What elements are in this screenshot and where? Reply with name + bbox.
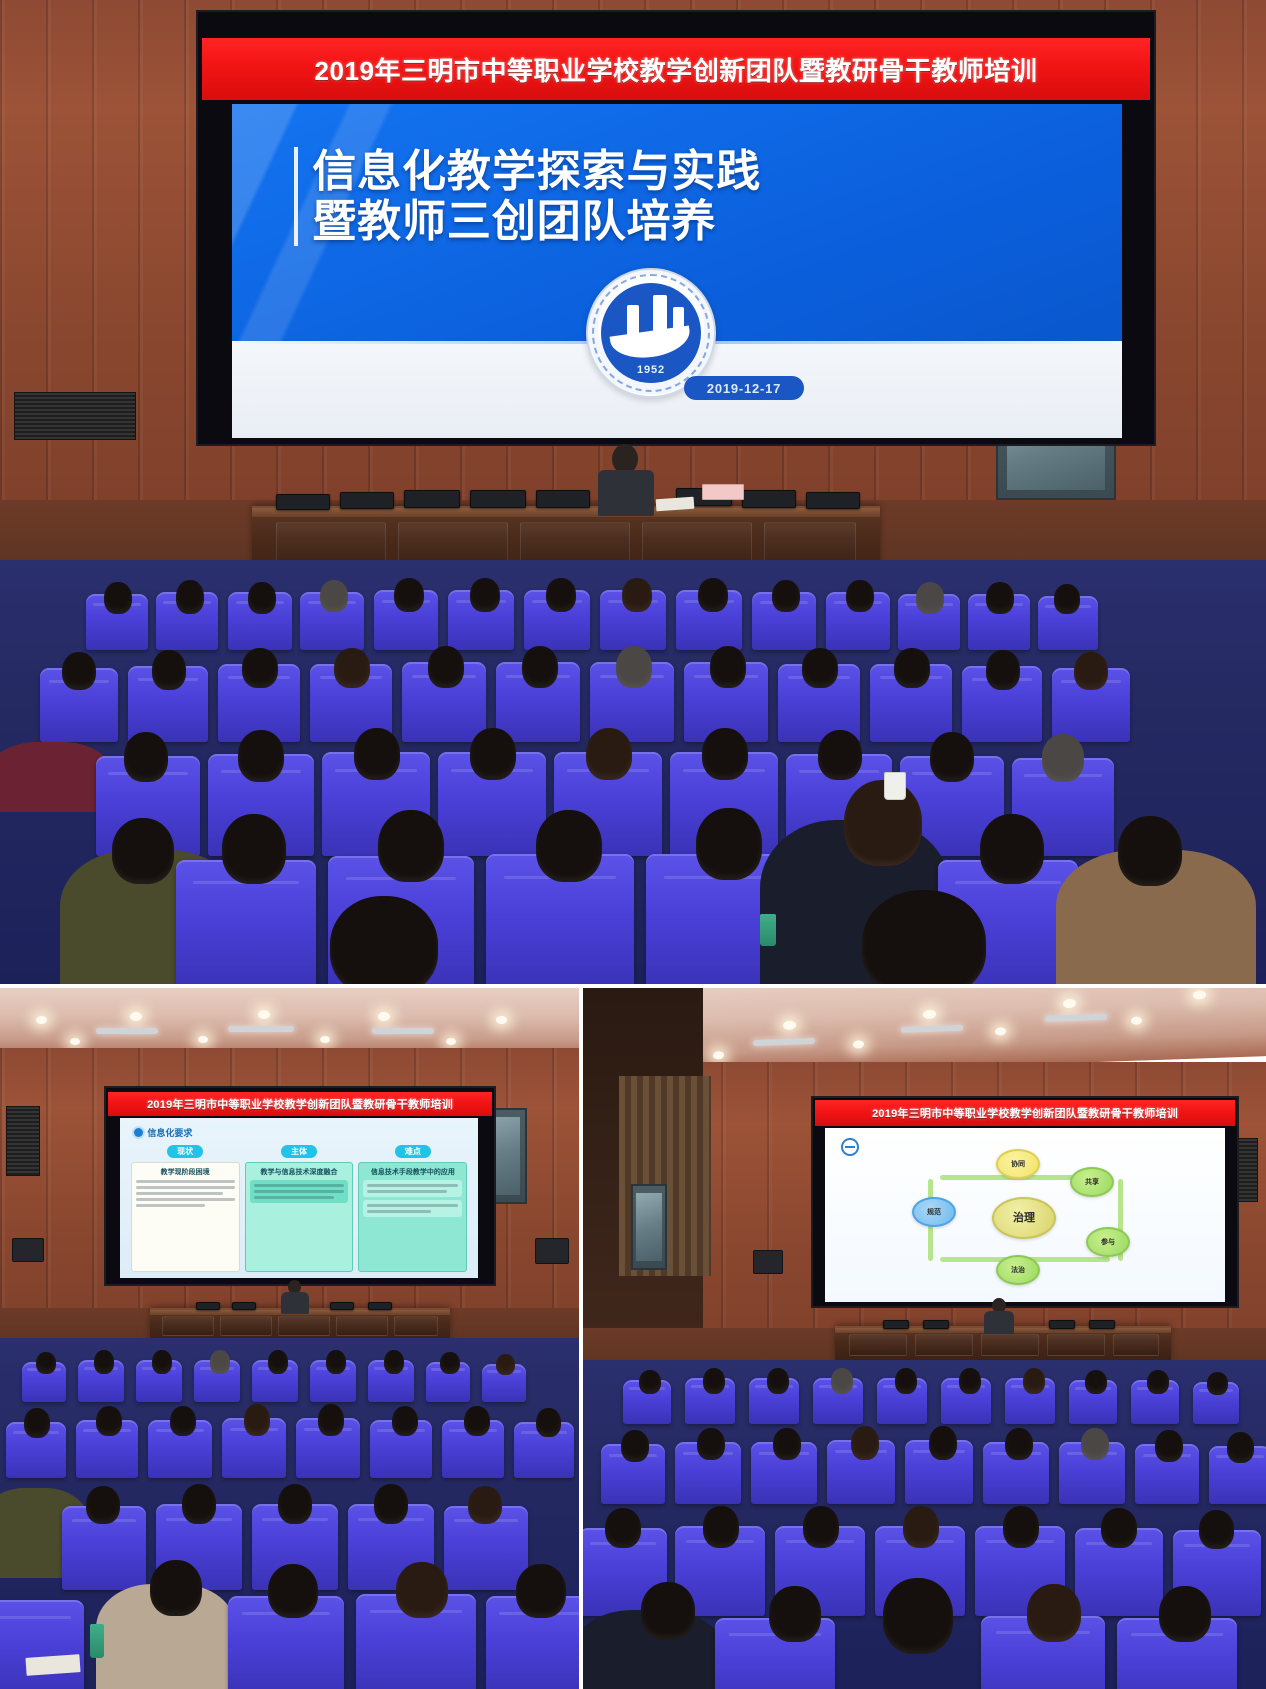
notebook-paper [25, 1654, 80, 1676]
wall-vent-left [6, 1106, 40, 1176]
audience-head [696, 808, 762, 880]
slide-section-label: 信息化要求 [147, 1126, 192, 1139]
event-banner: 2019年三明市中等职业学校教学创新团队暨教研骨干教师培训 [815, 1100, 1235, 1126]
auditorium-photo-slide-three-columns: 2019年三明市中等职业学校教学创新团队暨教研骨干教师培训 信息化要求 现状 教… [0, 988, 579, 1689]
text-line [136, 1204, 205, 1207]
audience-head [536, 810, 602, 882]
audience-head [394, 578, 424, 612]
desk-monitor [883, 1320, 909, 1329]
audience-head [536, 1408, 561, 1437]
audience-head [773, 1428, 801, 1460]
paper-cup [884, 772, 906, 800]
slide-title-block: 信息化教学探索与实践 暨教师三创团队培养 [294, 147, 761, 246]
event-banner-text: 2019年三明市中等职业学校教学创新团队暨教研骨干教师培训 [872, 1105, 1178, 1121]
text-line [136, 1192, 223, 1195]
audience-head [248, 582, 276, 614]
audience-head [622, 578, 652, 612]
head-table-panel [220, 1316, 272, 1336]
audience-head [1199, 1510, 1234, 1549]
auditorium-scene-top: 2019年三明市中等职业学校教学创新团队暨教研骨干教师培训 信息化教学探索与实践… [0, 0, 1266, 984]
text-line [136, 1198, 235, 1201]
audience-head [468, 1486, 502, 1524]
photo-collage: 2019年三明市中等职业学校教学创新团队暨教研骨干教师培训 信息化教学探索与实践… [0, 0, 1266, 1689]
audience-head [1042, 734, 1084, 782]
column-subcard [250, 1180, 349, 1203]
head-table-panel [981, 1334, 1039, 1356]
ceiling-light-tube [753, 1038, 815, 1046]
ceiling-downlight [995, 1027, 1006, 1035]
audience-head [1023, 1368, 1045, 1394]
audience-head [1118, 816, 1182, 886]
audience-head [516, 1564, 566, 1618]
text-line [254, 1196, 334, 1199]
audience-head [374, 1484, 408, 1524]
ceiling-downlight [198, 1036, 208, 1043]
cycle-node: 规范 [912, 1197, 956, 1227]
name-plate [702, 484, 744, 500]
desk-monitor [368, 1302, 392, 1310]
wall-speaker-left [12, 1238, 44, 1262]
water-bottle [90, 1624, 104, 1658]
audience-head [392, 1406, 418, 1436]
audience-head [242, 648, 278, 688]
text-line [136, 1180, 235, 1183]
audience-head [1003, 1506, 1039, 1548]
audience-head [616, 646, 652, 688]
audience-head [703, 1368, 725, 1394]
audience-head-foreground [883, 1578, 953, 1654]
column-card: 教学现阶段困境 [131, 1162, 240, 1271]
event-banner: 2019年三明市中等职业学校教学创新团队暨教研骨干教师培训 [202, 38, 1150, 100]
column-heading: 教学现阶段困境 [136, 1167, 235, 1177]
audience-head [1207, 1372, 1228, 1395]
audience-head [639, 1370, 661, 1394]
side-door-left [631, 1184, 667, 1270]
head-table-panel [278, 1316, 330, 1336]
column-tag: 主体 [281, 1145, 317, 1158]
audience-head [354, 728, 400, 780]
desk-monitor [536, 490, 590, 508]
presentation-slide-three-columns: 信息化要求 现状 教学现阶段困境 [120, 1118, 478, 1278]
head-table-top [252, 508, 880, 517]
audience-head [802, 648, 838, 688]
ceiling-downlight [1131, 1016, 1142, 1024]
bottom-photo-row: 2019年三明市中等职业学校教学创新团队暨教研骨干教师培训 信息化要求 现状 教… [0, 988, 1266, 1689]
audience-head [903, 1506, 939, 1548]
audience-head [1081, 1428, 1109, 1460]
event-banner-text: 2019年三明市中等职业学校教学创新团队暨教研骨干教师培训 [147, 1096, 453, 1112]
audience-head [586, 728, 632, 780]
audience-head [959, 1368, 981, 1394]
event-banner: 2019年三明市中等职业学校教学创新团队暨教研骨干教师培训 [108, 1092, 492, 1116]
slide-column: 现状 教学现阶段困境 [131, 1145, 240, 1271]
cycle-node: 协同 [996, 1149, 1040, 1179]
audience-head [96, 1406, 122, 1436]
ceiling-downlight [713, 1051, 724, 1059]
ceiling-downlight [446, 1038, 456, 1045]
audience-head [710, 646, 746, 688]
ceiling-downlight [378, 1012, 390, 1021]
audience-head [36, 1352, 56, 1374]
audience-head [916, 582, 944, 614]
audience-head [1074, 652, 1108, 690]
cycle-node: 法治 [996, 1255, 1040, 1285]
audience-head [268, 1350, 288, 1374]
desk-monitor [742, 490, 796, 508]
desk-monitor [806, 492, 860, 509]
audience-head [844, 780, 922, 866]
audience-head [152, 1350, 172, 1374]
ceiling-light-tube [372, 1028, 434, 1034]
speaker-at-head-table [983, 1298, 1015, 1332]
speaker-body [281, 1292, 309, 1314]
speaker-body [598, 470, 654, 516]
head-table-panel [336, 1316, 388, 1336]
audience-head [318, 1404, 344, 1436]
ceiling-light-tube [901, 1025, 963, 1033]
audience-head [641, 1582, 695, 1640]
column-tag: 现状 [167, 1145, 203, 1158]
slide-columns: 现状 教学现阶段困境 主体 [131, 1145, 468, 1271]
ceiling-light-tube [228, 1026, 294, 1032]
ceiling-downlight [70, 1038, 80, 1045]
ceiling-downlight [783, 1021, 796, 1030]
audience-head [895, 1368, 917, 1394]
audience-head [803, 1506, 839, 1548]
column-card: 教学与信息技术深度融合 [245, 1162, 354, 1271]
desk-monitor [196, 1302, 220, 1310]
ceiling-downlight [36, 1016, 47, 1024]
desk-monitor [404, 490, 460, 508]
column-tag: 难点 [395, 1145, 431, 1158]
audience-head [378, 810, 444, 882]
ceiling-downlight [130, 1012, 142, 1021]
cycle-diagram: 治理 协同 共享 参与 法治 规范 [900, 1153, 1150, 1283]
audience-head [702, 728, 748, 780]
cycle-node: 共享 [1070, 1167, 1114, 1197]
presentation-slide-title: 信息化教学探索与实践 暨教师三创团队培养 1952 2019-12-17 [232, 104, 1122, 438]
audience-head [1005, 1428, 1033, 1460]
water-bottle [760, 914, 776, 946]
audience-head [94, 1350, 114, 1374]
ceiling-downlight [853, 1040, 864, 1048]
auditorium-photo-slide-cycle-diagram: 2019年三明市中等职业学校教学创新团队暨教研骨干教师培训 治理 协同 [583, 988, 1266, 1689]
ceiling-downlight [496, 1016, 507, 1024]
cycle-center-node: 治理 [992, 1197, 1056, 1239]
ceiling-downlight [1063, 999, 1076, 1008]
audience-head-foreground [330, 896, 438, 984]
text-line [136, 1186, 235, 1189]
column-subcard [363, 1180, 462, 1197]
audience-head [546, 578, 576, 612]
audience-head [470, 578, 500, 612]
audience-head [1147, 1370, 1169, 1394]
emblem-founding-year: 1952 [637, 364, 665, 376]
audience-head [1155, 1430, 1183, 1462]
head-table-panel [162, 1316, 214, 1336]
door-glass [636, 1193, 663, 1262]
audience-head [831, 1368, 853, 1394]
audience-head [930, 732, 974, 782]
slide-date-badge: 2019-12-17 [684, 376, 804, 400]
audience-head [522, 646, 558, 688]
chair [0, 1600, 84, 1689]
column-card: 信息技术手段教学中的应用 [358, 1162, 467, 1271]
audience-head [703, 1506, 739, 1548]
audience-head [278, 1484, 312, 1524]
audience-head [1054, 584, 1080, 614]
head-table-panel [1113, 1334, 1159, 1356]
speaker-at-head-table [280, 1280, 310, 1312]
wall-speaker-right [535, 1238, 569, 1264]
audience-head [182, 1484, 216, 1524]
speaker-body [984, 1311, 1014, 1334]
audience-head [222, 814, 286, 884]
audience-head [851, 1426, 879, 1460]
audience-head [152, 650, 186, 690]
slide-title-line-1: 信息化教学探索与实践 [312, 147, 761, 196]
audience-head [1085, 1370, 1107, 1394]
audience-head [769, 1586, 821, 1642]
audience-head [986, 582, 1014, 614]
audience-head [1227, 1432, 1254, 1463]
audience-head [428, 646, 464, 688]
desk-monitor [276, 494, 330, 510]
column-heading: 信息技术手段教学中的应用 [363, 1167, 462, 1177]
text-line [367, 1210, 431, 1213]
slide-section-header: 信息化要求 [134, 1126, 192, 1139]
audience-head [818, 730, 862, 780]
desk-monitor [1049, 1320, 1075, 1329]
audience-area [0, 560, 1266, 984]
audience-head [150, 1560, 202, 1616]
audience-shoulders [0, 742, 110, 812]
audience-head [86, 1486, 120, 1524]
audience-head [894, 648, 930, 688]
slide-column: 难点 信息技术手段教学中的应用 [358, 1145, 467, 1271]
desk-monitor [232, 1302, 256, 1310]
audience-head [170, 1406, 196, 1436]
slide-column: 主体 教学与信息技术深度融合 [245, 1145, 354, 1271]
desk-monitor [923, 1320, 949, 1329]
audience-head [384, 1350, 404, 1374]
audience-head [1027, 1584, 1081, 1642]
audience-head-foreground [862, 890, 986, 984]
slide-logo [841, 1138, 859, 1156]
head-table-panel [915, 1334, 973, 1356]
main-auditorium-photo: 2019年三明市中等职业学校教学创新团队暨教研骨干教师培训 信息化教学探索与实践… [0, 0, 1266, 984]
audience-head [124, 732, 168, 782]
text-line [367, 1184, 458, 1187]
audience-head [470, 728, 516, 780]
slide-title-line-2: 暨教师三创团队培养 [312, 197, 761, 246]
head-table-panel [1047, 1334, 1105, 1356]
wall-vent-left [14, 392, 136, 440]
audience-head [62, 652, 96, 690]
audience-head [210, 1350, 230, 1374]
audience-head [980, 814, 1044, 884]
ceiling-downlight [923, 1010, 936, 1019]
audience-head [238, 730, 284, 782]
desk-monitor [470, 490, 526, 508]
ceiling-light-tube [1045, 1014, 1107, 1022]
speaker-at-head-table [596, 444, 656, 514]
event-banner-text: 2019年三明市中等职业学校教学创新团队暨教研骨干教师培训 [315, 51, 1038, 88]
audience-head [772, 580, 800, 612]
audience-head [396, 1562, 448, 1618]
audience-head [440, 1352, 460, 1374]
bullet-dot-icon [134, 1128, 143, 1137]
presentation-slide-cycle-diagram: 治理 协同 共享 参与 法治 规范 [825, 1128, 1225, 1302]
audience-head [1101, 1508, 1137, 1548]
audience-head [1159, 1586, 1211, 1642]
audience-head [697, 1428, 725, 1460]
auditorium-scene-bottom-left: 2019年三明市中等职业学校教学创新团队暨教研骨干教师培训 信息化要求 现状 教… [0, 988, 579, 1689]
text-line [254, 1184, 345, 1187]
audience-head [244, 1404, 270, 1436]
desk-monitor [1089, 1320, 1115, 1329]
audience-area [0, 1338, 579, 1689]
audience-head [320, 580, 348, 612]
head-table-panel [849, 1334, 907, 1356]
audience-head [176, 580, 204, 614]
audience-head [767, 1368, 789, 1394]
text-line [367, 1204, 458, 1207]
audience-head [104, 582, 132, 614]
head-table-panel [394, 1316, 438, 1336]
audience-area [583, 1360, 1266, 1689]
text-line [367, 1190, 447, 1193]
audience-head [24, 1408, 50, 1438]
text-line [254, 1190, 345, 1193]
column-subcard [363, 1200, 462, 1217]
audience-head [846, 580, 874, 612]
audience-head [268, 1564, 318, 1618]
audience-head [621, 1430, 649, 1462]
ceiling-light-tube [96, 1028, 158, 1034]
audience-head [698, 578, 728, 612]
audience-head [464, 1406, 490, 1436]
logo-ring-icon [841, 1138, 859, 1156]
audience-head [112, 818, 174, 884]
desk-monitor [340, 492, 394, 509]
audience-head [496, 1354, 515, 1375]
audience-head [334, 648, 370, 688]
ceiling-downlight [1193, 990, 1206, 999]
audience-head [929, 1426, 957, 1460]
ceiling-downlight [258, 1010, 270, 1019]
auditorium-scene-bottom-right: 2019年三明市中等职业学校教学创新团队暨教研骨干教师培训 治理 协同 [583, 988, 1266, 1689]
audience-head [326, 1350, 346, 1374]
desk-monitor [330, 1302, 354, 1310]
audience-head [605, 1508, 641, 1548]
audience-head [986, 650, 1020, 690]
ceiling-downlight [320, 1036, 330, 1043]
column-heading: 教学与信息技术深度融合 [250, 1167, 349, 1177]
wall-speaker-left [753, 1250, 783, 1274]
cycle-node: 参与 [1086, 1227, 1130, 1257]
